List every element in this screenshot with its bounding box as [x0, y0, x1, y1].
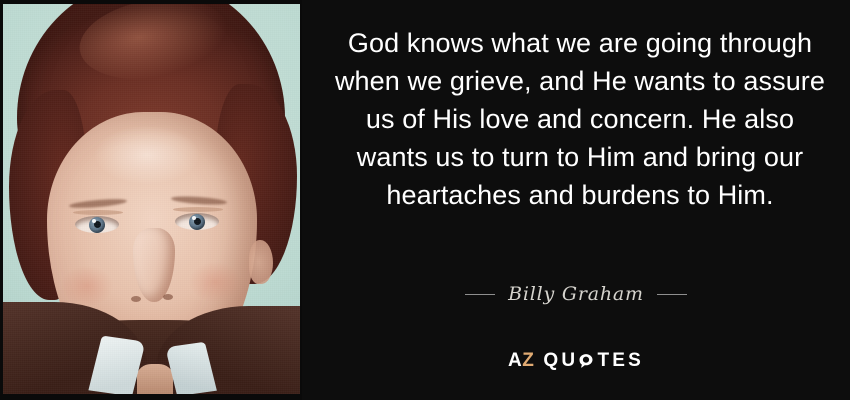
- photo-grain-overlay: [3, 4, 300, 394]
- logo-az: AZ: [508, 351, 534, 370]
- attribution-rule-left: [465, 294, 495, 295]
- quote-card: God knows what we are going through when…: [0, 0, 850, 400]
- azquotes-logo[interactable]: AZ QUTES: [302, 351, 850, 370]
- attribution: Billy Graham: [302, 283, 850, 305]
- quote-text: God knows what we are going through when…: [328, 24, 832, 214]
- photo-border-left: [0, 0, 3, 400]
- logo-quotes-prefix: QU: [543, 351, 578, 370]
- attribution-rule-right: [657, 294, 687, 295]
- photo-border-top: [0, 0, 302, 4]
- logo-quotes-suffix: TES: [597, 351, 644, 370]
- photo-border-bottom: [0, 394, 302, 400]
- logo-letter-a: A: [508, 350, 522, 371]
- logo-letter-z: Z: [522, 350, 534, 371]
- attribution-author-name: Billy Graham: [508, 283, 644, 305]
- logo-quotes-word: QUTES: [543, 351, 644, 370]
- portrait-image-area: [3, 4, 300, 394]
- author-portrait-photo: [0, 0, 302, 400]
- quote-content-panel: God knows what we are going through when…: [302, 0, 850, 400]
- speech-bubble-icon: [578, 353, 594, 369]
